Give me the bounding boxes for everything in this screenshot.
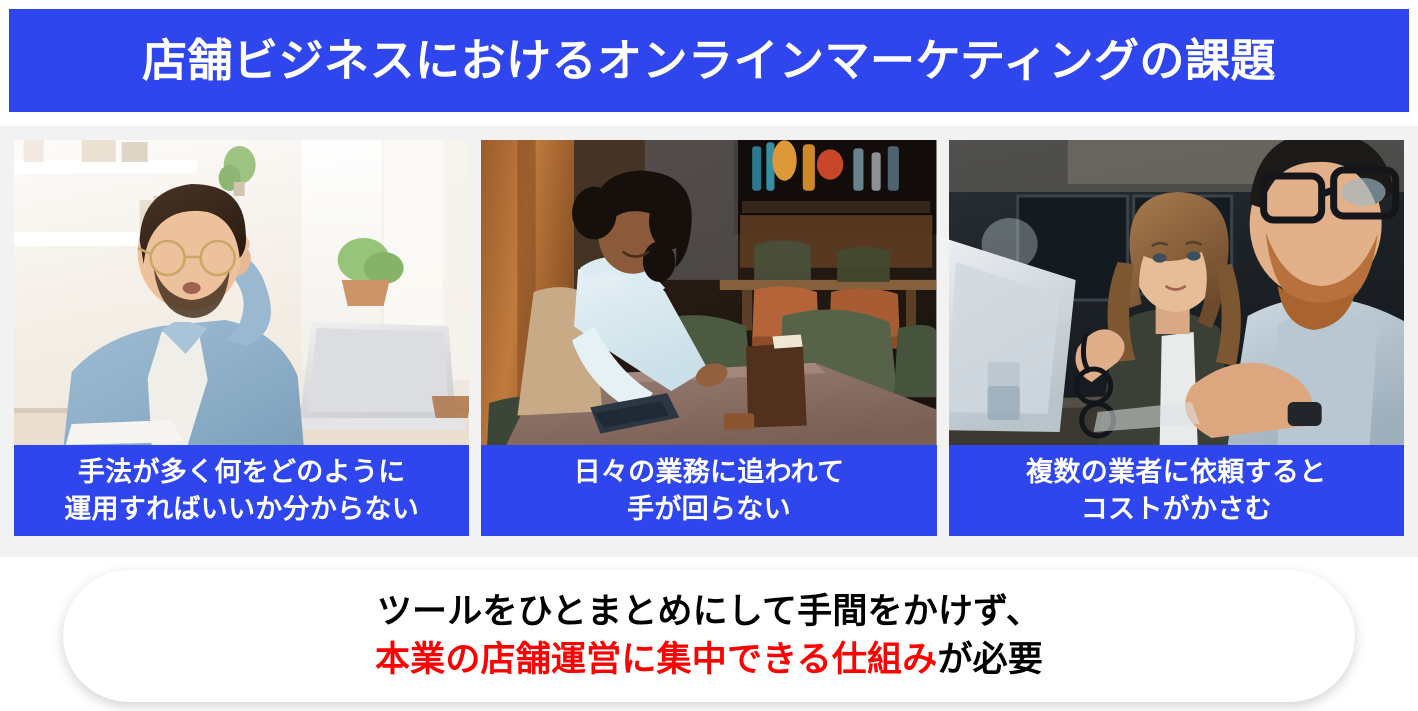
problem-caption-2-line2: 手が回らない bbox=[574, 491, 845, 527]
problem-caption-3-line1: 複数の業者に依頼すると bbox=[1026, 454, 1326, 490]
problem-card-3[interactable]: 複数の業者に依頼すると コストがかさむ bbox=[949, 140, 1404, 536]
problem-caption-3-line2: コストがかさむ bbox=[1026, 491, 1326, 527]
problem-card-list: 手法が多く何をどのように 運用すればいいか分からない bbox=[14, 140, 1404, 536]
header-banner: 店舗ビジネスにおけるオンラインマーケティングの課題 bbox=[9, 9, 1409, 112]
page-title: 店舗ビジネスにおけるオンラインマーケティングの課題 bbox=[142, 38, 1276, 83]
problem-caption-1-line1: 手法が多く何をどのように bbox=[64, 454, 419, 490]
problem-caption-2: 日々の業務に追われて 手が回らない bbox=[481, 445, 936, 536]
callout-tail-text: が必要 bbox=[937, 640, 1043, 679]
problem-card-1[interactable]: 手法が多く何をどのように 運用すればいいか分からない bbox=[14, 140, 469, 536]
callout-line-2: 本業の店舗運営に集中できる仕組みが必要 bbox=[375, 636, 1043, 684]
callout-line-1: ツールをひとまとめにして手間をかけず、 bbox=[377, 588, 1041, 636]
problem-caption-1: 手法が多く何をどのように 運用すればいいか分からない bbox=[14, 445, 469, 536]
problem-photo-1 bbox=[14, 140, 469, 445]
problem-card-2[interactable]: 日々の業務に追われて 手が回らない bbox=[481, 140, 936, 536]
solution-callout: ツールをひとまとめにして手間をかけず、 本業の店舗運営に集中できる仕組みが必要 bbox=[63, 570, 1355, 702]
problem-photo-3 bbox=[949, 140, 1404, 445]
restaurant-staff-cleaning-illustration bbox=[481, 140, 936, 445]
problem-caption-2-line1: 日々の業務に追われて bbox=[574, 454, 845, 490]
content-stage: 手法が多く何をどのように 運用すればいいか分からない bbox=[0, 126, 1418, 557]
two-colleagues-laptop-illustration bbox=[949, 140, 1404, 445]
problem-caption-1-line2: 運用すればいいか分からない bbox=[64, 491, 419, 527]
frustrated-man-laptop-illustration bbox=[14, 140, 469, 445]
callout-highlight-text: 本業の店舗運営に集中できる仕組み bbox=[375, 640, 938, 679]
problem-caption-3: 複数の業者に依頼すると コストがかさむ bbox=[949, 445, 1404, 536]
problem-photo-2 bbox=[481, 140, 936, 445]
